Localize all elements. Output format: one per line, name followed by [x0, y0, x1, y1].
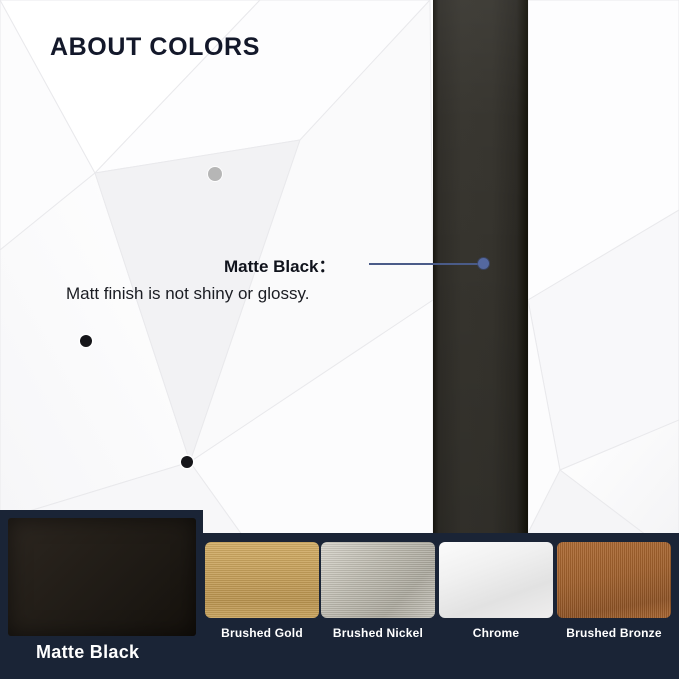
swatch-option-brushed-gold[interactable]: Brushed Gold — [205, 542, 319, 640]
callout-leader-dot — [478, 258, 489, 269]
swatch-chip-brushed-gold[interactable] — [205, 542, 319, 618]
black-dot-lower-icon — [181, 456, 193, 468]
black-dot-upper-icon — [80, 335, 92, 347]
swatch-chip-brushed-nickel[interactable] — [321, 542, 435, 618]
gray-dot-icon — [208, 167, 222, 181]
swatch-label-matte-black: Matte Black — [36, 642, 139, 663]
about-colors-infographic: ABOUT COLORS Matte Black： Matt finish is… — [0, 0, 679, 679]
swatch-label-brushed-gold: Brushed Gold — [205, 626, 319, 640]
swatch-label-brushed-bronze: Brushed Bronze — [557, 626, 671, 640]
swatch-option-brushed-bronze[interactable]: Brushed Bronze — [557, 542, 671, 640]
callout-description: Matt finish is not shiny or glossy. — [66, 284, 309, 304]
swatch-option-brushed-nickel[interactable]: Brushed Nickel — [321, 542, 435, 640]
callout-leader-line — [369, 263, 482, 265]
swatch-label-chrome: Chrome — [439, 626, 553, 640]
swatch-chip-matte-black[interactable] — [8, 518, 196, 636]
swatch-chip-brushed-bronze[interactable] — [557, 542, 671, 618]
swatch-option-matte-black-selected[interactable]: Matte Black — [0, 510, 203, 679]
page-title: ABOUT COLORS — [50, 33, 260, 62]
swatch-label-brushed-nickel: Brushed Nickel — [321, 626, 435, 640]
swatch-chip-chrome[interactable] — [439, 542, 553, 618]
swatch-option-chrome[interactable]: Chrome — [439, 542, 553, 640]
callout-label: Matte Black： — [224, 252, 335, 277]
